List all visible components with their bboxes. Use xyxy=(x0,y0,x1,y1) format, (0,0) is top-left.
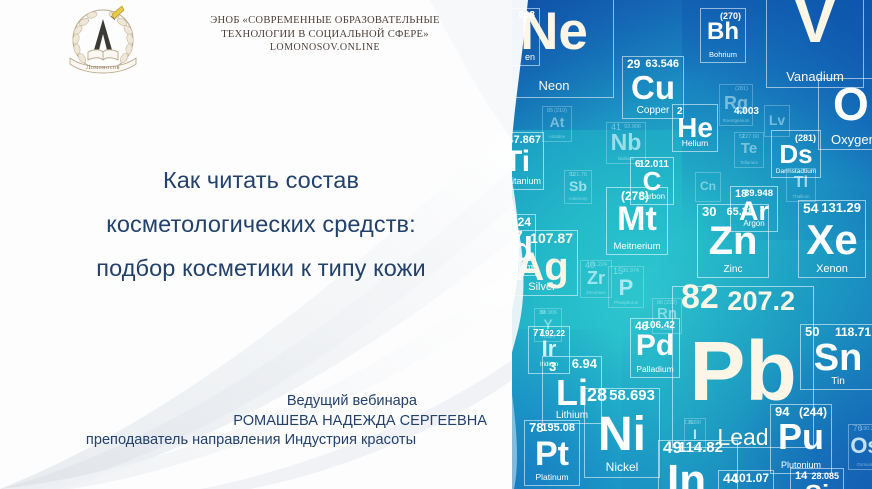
organization-name: ЭНОБ «СОВРЕМЕННЫЕ ОБРАЗОВАТЕЛЬНЫЕ ТЕХНОЛ… xyxy=(146,4,504,55)
element-tile-pu: 94 (244) Pu Plutonium xyxy=(770,404,832,474)
presenter-position: преподаватель направления Индустрия крас… xyxy=(10,431,492,451)
element-symbol: Ds xyxy=(772,141,820,167)
element-symbol: Zn xyxy=(698,221,768,261)
presentation-slide: Ломоносов ЭНОБ «СОВРЕМЕННЫЕ ОБРАЗОВАТЕЛЬ… xyxy=(0,0,872,489)
crest-icon: Ломоносов xyxy=(64,4,142,76)
element-name: Nickel xyxy=(585,462,659,473)
element-number: 30 xyxy=(702,206,716,218)
element-name: Roentgenium xyxy=(720,118,752,123)
element-tile-te: 52 127.60 Te Tellurium xyxy=(734,132,764,168)
org-website: LOMONOSOV.ONLINE xyxy=(146,41,504,55)
element-symbol: Zr xyxy=(581,269,611,287)
element-symbol: Mt xyxy=(607,202,667,236)
element-tile-sn: 50 118.71 Sn Tin xyxy=(800,324,872,390)
element-symbol: Sn xyxy=(801,339,872,377)
element-name: Tin xyxy=(801,376,872,387)
presenter-block: Ведущий вебинара РОМАШЕВА НАДЕЖДА СЕРГЕЕ… xyxy=(10,392,492,451)
element-name: Oxygen xyxy=(831,134,872,145)
element-symbol: Cu xyxy=(623,71,683,104)
element-name: Antimony xyxy=(565,196,591,201)
element-name: Meitnerium xyxy=(607,241,667,252)
slide-title: Как читать состав косметологических сред… xyxy=(30,158,492,290)
title-line-2: косметологических средств: xyxy=(30,202,492,246)
element-name: Xenon xyxy=(799,264,865,275)
image-edge-swoosh-overlay xyxy=(512,0,550,489)
element-tile-si: 14 28.085 Si xyxy=(790,468,844,489)
element-symbol: V xyxy=(767,0,863,53)
element-name: Thallium xyxy=(787,194,815,199)
element-number: 28 xyxy=(587,389,607,401)
element-symbol: I xyxy=(685,427,705,441)
crest-banner-text: Ломоносов xyxy=(86,64,120,71)
presenter-role: Ведущий вебинара xyxy=(10,392,492,412)
element-symbol: P xyxy=(609,277,643,299)
presenter-name: РОМАШЕВА НАДЕЖДА СЕРГЕЕВНА xyxy=(10,412,492,432)
title-line-3: подбор косметики к типу кожи xyxy=(30,246,492,290)
element-tile-xe: 54 131.29 Xe Xenon xyxy=(798,200,866,278)
element-symbol: Bh xyxy=(701,20,745,44)
element-symbol: Tl xyxy=(787,175,815,191)
element-name: Bohrium xyxy=(701,49,745,60)
element-number: 82 xyxy=(681,291,719,303)
element-tile-i: 53 126.90 I Iodine xyxy=(684,418,706,452)
element-name: Osmium xyxy=(849,462,872,467)
element-name: Zirconium xyxy=(581,290,611,295)
title-line-1: Как читать состав xyxy=(30,158,492,202)
element-symbol: Os xyxy=(849,435,872,457)
element-symbol: Ni xyxy=(585,411,659,459)
slide-header: Ломоносов ЭНОБ «СОВРЕМЕННЫЕ ОБРАЗОВАТЕЛЬ… xyxy=(64,4,504,76)
element-name: Tellurium xyxy=(735,160,763,165)
org-line-2: ТЕХНОЛОГИИ В СОЦИАЛЬНОЙ СФЕРЕ» xyxy=(146,28,504,42)
periodic-table-background-image: 10 20.180 Ne Neon 008 en 29 63.546 Cu Co… xyxy=(512,0,872,489)
element-mass: 58.693 xyxy=(609,390,655,402)
org-line-1: ЭНОБ «СОВРЕМЕННЫЕ ОБРАЗОВАТЕЛЬНЫЕ xyxy=(146,14,504,28)
element-symbol: Xe xyxy=(799,219,865,261)
element-tile-zn: 30 65.38 Zn Zinc xyxy=(697,204,769,278)
element-symbol: O xyxy=(833,81,872,127)
element-mass: 30.974 xyxy=(622,268,639,274)
element-tile-bh: (270) Bh Bohrium xyxy=(700,8,746,63)
element-tile-ni: 28 58.693 Ni Nickel xyxy=(584,388,660,478)
element-tile-v: V Vanadium xyxy=(766,0,864,88)
element-mass: (281) xyxy=(735,86,748,92)
element-symbol: Sb xyxy=(565,179,591,193)
element-mass: 131.29 xyxy=(821,202,861,214)
element-mass: 6.94 xyxy=(572,358,597,370)
slide-left-panel: Ломоносов ЭНОБ «СОВРЕМЕННЫЕ ОБРАЗОВАТЕЛЬ… xyxy=(0,0,512,489)
lomonosov-crest-logo: Ломоносов xyxy=(64,4,142,76)
element-tile-ru: 44 101.07 xyxy=(718,470,774,489)
element-tile-o: 15.99 O Oxygen xyxy=(818,78,872,150)
element-tile-tl: Tl Thallium xyxy=(786,168,816,202)
element-tile-rg: (281) Rg Roentgenium xyxy=(719,84,753,126)
element-tile-p: 15 30.974 P Phosphorus xyxy=(608,266,644,308)
element-symbol: Cn xyxy=(696,180,720,192)
element-name: Helium xyxy=(673,138,717,149)
element-symbol: Pu xyxy=(771,419,831,455)
element-tile-he: 2 4.003 He Helium xyxy=(672,104,718,152)
element-mass: 190.23 xyxy=(860,426,872,432)
element-name: Phosphorus xyxy=(609,300,643,305)
element-symbol: Pb xyxy=(673,329,813,413)
element-tile-mt: (278) Mt Meitnerium xyxy=(606,187,668,255)
element-symbol: Te xyxy=(735,141,763,156)
element-mass: 4.003 xyxy=(734,106,759,118)
element-mass: 101.07 xyxy=(732,472,769,484)
element-tile-cn: Cn xyxy=(695,172,721,202)
element-number: 54 xyxy=(803,202,819,214)
element-tile-sb: 51 121.76 Sb Antimony xyxy=(564,170,592,204)
element-symbol: Nb xyxy=(607,131,645,154)
element-name: Iodine xyxy=(685,444,705,449)
element-name: Zinc xyxy=(698,264,768,275)
element-mass: 65.38 xyxy=(726,206,754,218)
element-tile-os: 76 190.23 Os Osmium xyxy=(848,424,872,470)
element-mass: 207.2 xyxy=(727,295,795,307)
element-symbol: Si xyxy=(791,481,843,489)
element-symbol: Lv xyxy=(765,113,789,127)
